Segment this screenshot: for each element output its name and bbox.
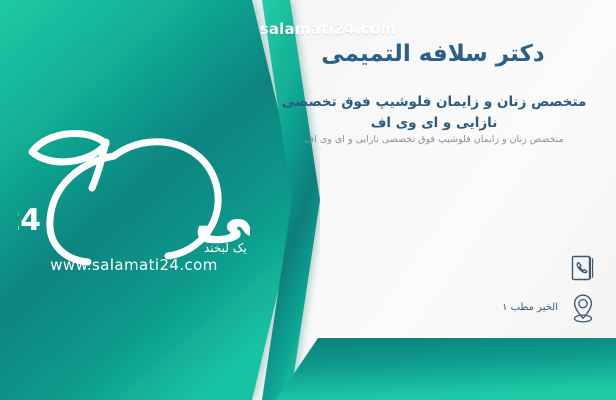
brand-website: www.salamati24.com — [50, 256, 218, 272]
doctor-specialty: متخصص زنان و زایمان فلوشیپ فوق تخصصی ناز… — [270, 92, 598, 134]
business-card: سلامتی 24 براحتی یک لبخند www.salamati24… — [0, 0, 616, 400]
doctor-specialty-secondary: متخصص زنان و زایمان فلوشیپ فوق تخصصی ناز… — [270, 132, 598, 148]
svg-text:24: 24 — [18, 203, 40, 238]
contact-list: الخیر مطب ۱ — [260, 248, 600, 328]
contact-row-address[interactable]: الخیر مطب ۱ — [260, 288, 600, 328]
doctor-name: دکتر سلافه التمیمی — [268, 40, 598, 69]
brand-tagline: براحتی یک لبخند — [204, 241, 250, 256]
footer-website[interactable]: salamati24.com — [220, 20, 397, 38]
svg-text:سلامتی: سلامتی — [194, 182, 250, 250]
contact-row-phone[interactable] — [260, 248, 600, 288]
footer-website-wrap: salamati24.com — [0, 20, 616, 38]
brand-logo: سلامتی 24 براحتی یک لبخند www.salamati24… — [18, 112, 250, 272]
brand-number: 24 — [18, 203, 40, 238]
contact-address-label: الخیر مطب ۱ — [502, 301, 558, 315]
phone-book-icon[interactable] — [566, 250, 600, 286]
location-pin-icon[interactable] — [566, 290, 600, 326]
apple-outline-icon: سلامتی 24 براحتی یک لبخند www.salamati24… — [18, 112, 250, 272]
footer-bar — [0, 338, 616, 400]
brand-wordmark: سلامتی — [194, 182, 250, 250]
